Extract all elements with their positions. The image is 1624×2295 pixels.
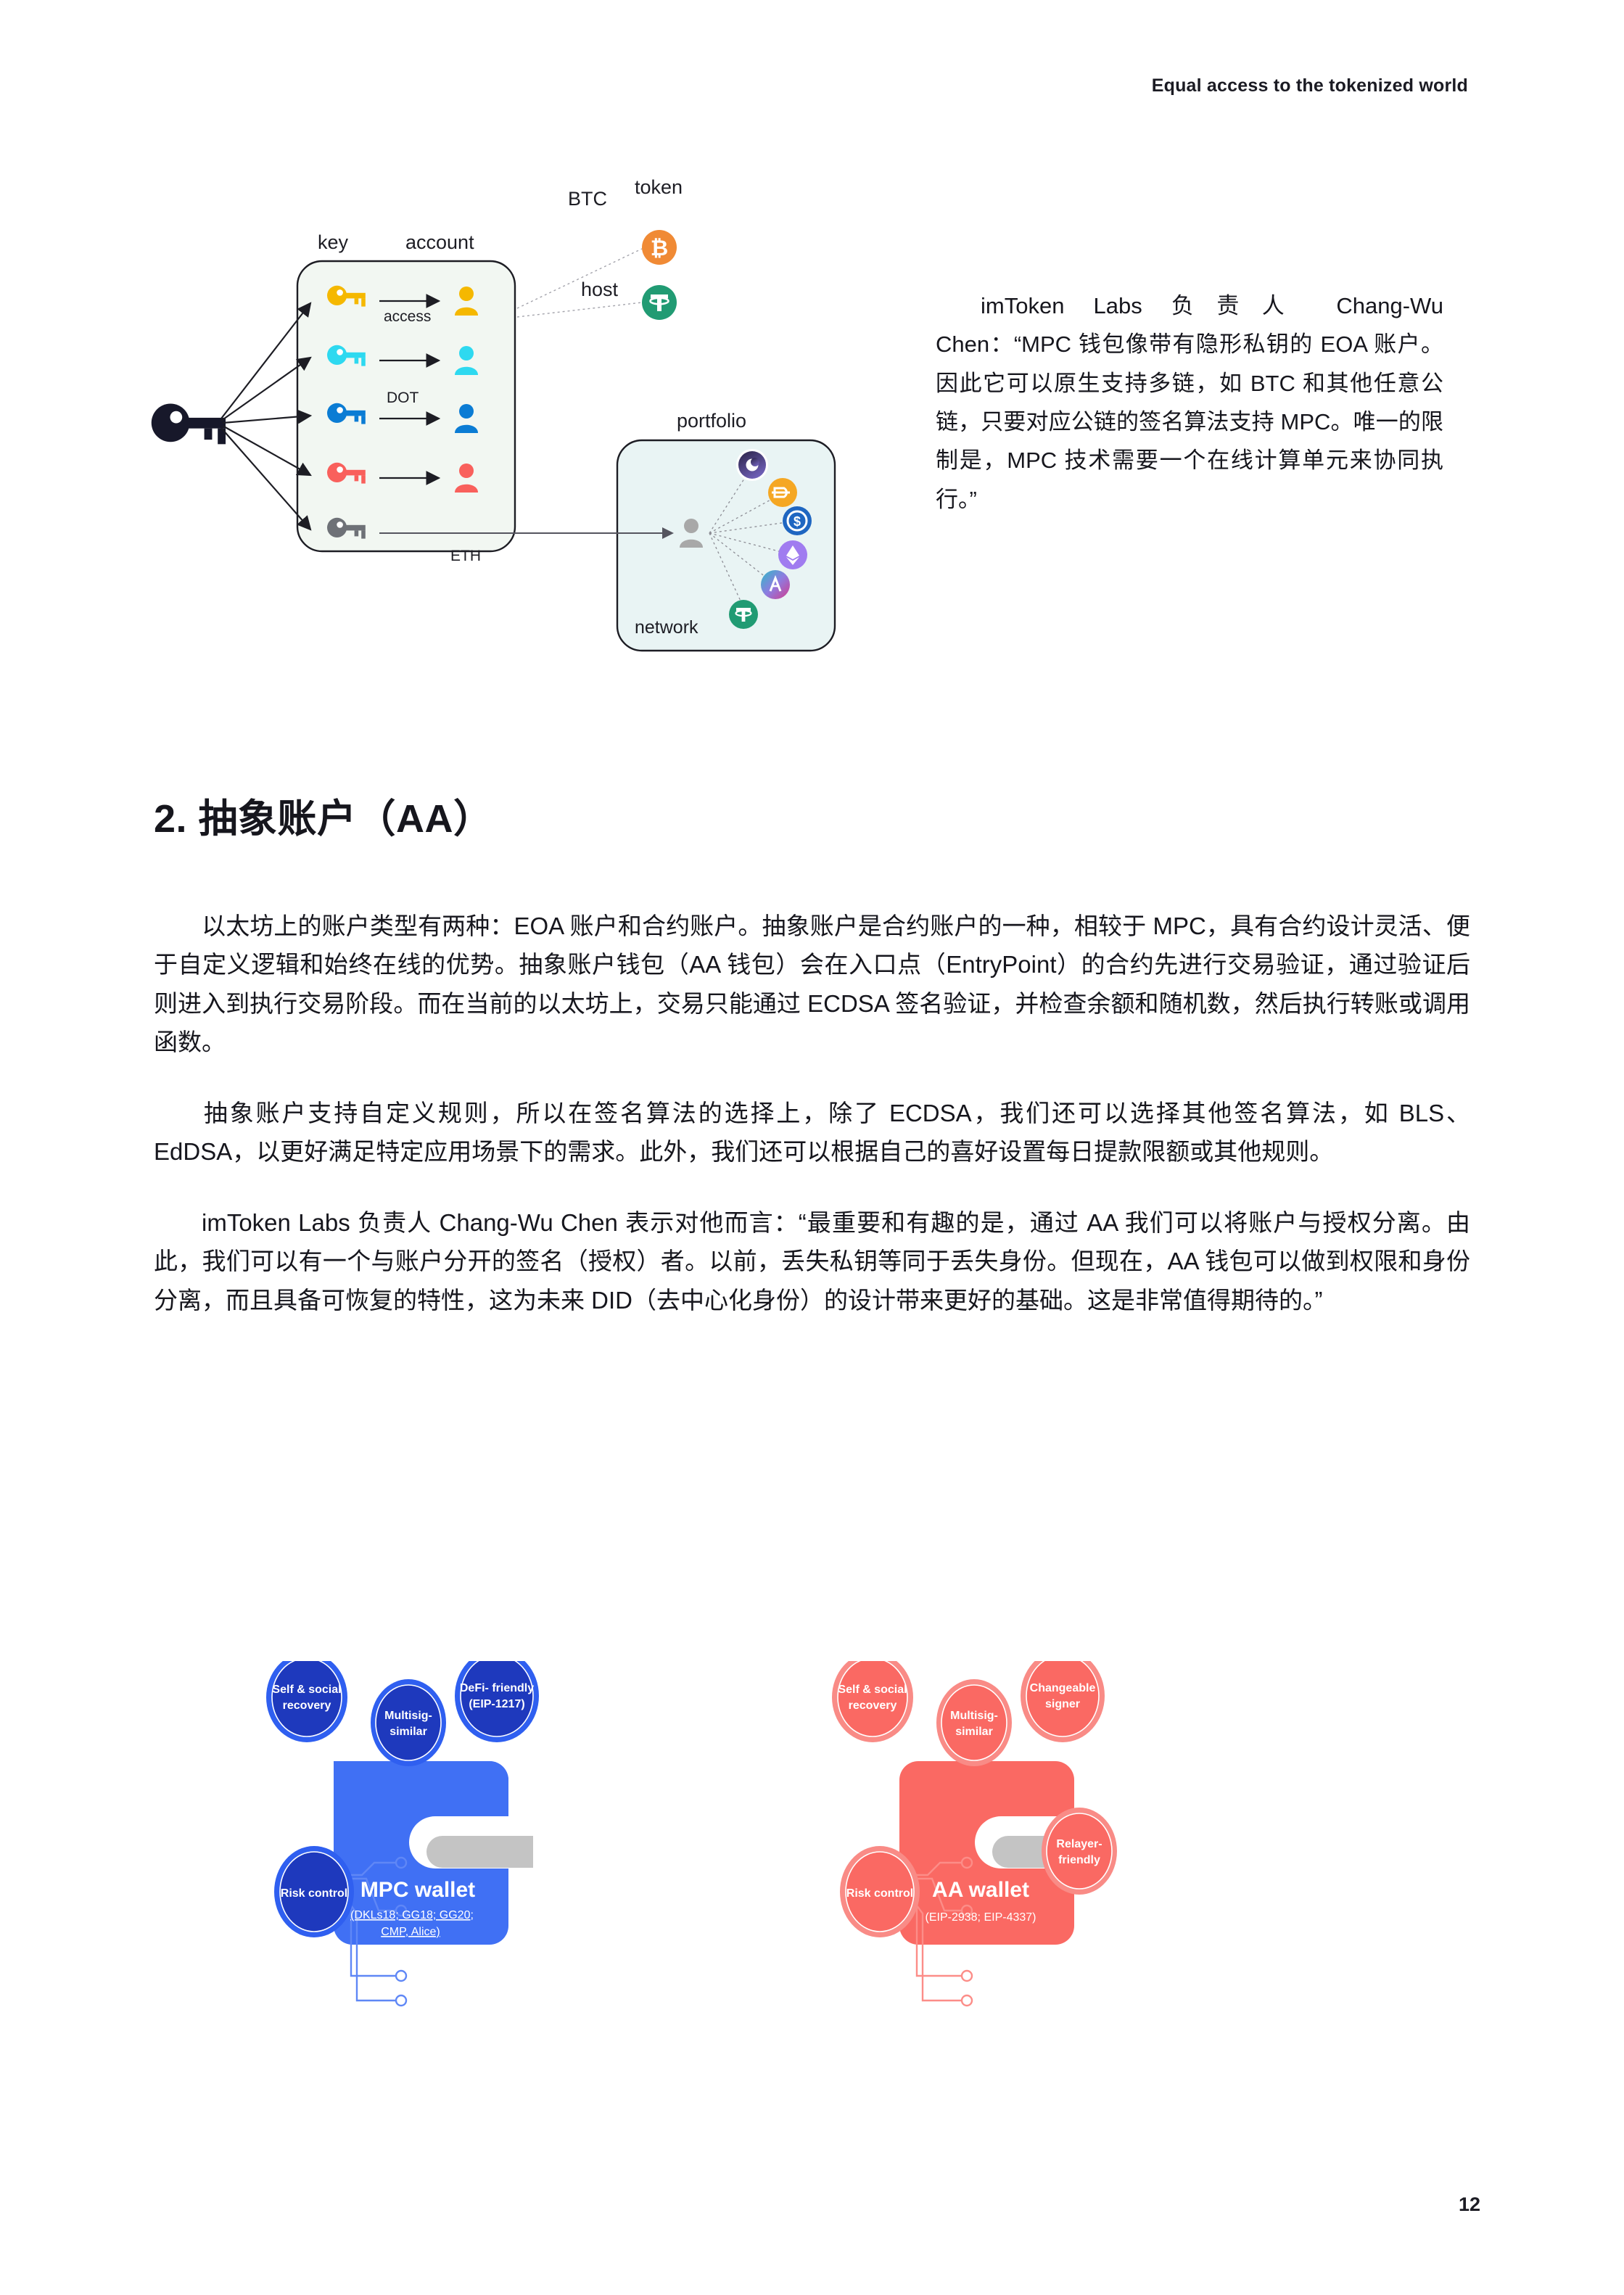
- mpc-bubble-label-line1: Risk control: [281, 1887, 347, 1900]
- mpc-wallet-title: MPC wallet: [360, 1878, 475, 1902]
- aa-bubble-self-social-recovery: Self & social recovery: [832, 1661, 913, 1742]
- aa-bubble-multisig-similar: Multisig- similar: [936, 1679, 1012, 1766]
- wallet-comparison-diagram: Self & social recovery Multisig- similar…: [261, 1661, 1393, 2096]
- label-portfolio: portfolio: [677, 410, 746, 432]
- mpc-bubble-multisig-similar: Multisig- similar: [371, 1679, 446, 1766]
- mpc-wallet-group: Self & social recovery Multisig- similar…: [266, 1661, 539, 2006]
- label-key: key: [318, 231, 349, 253]
- aa-bubble-label-line1: Changeable: [1030, 1682, 1096, 1694]
- aa-bubble-relayer-friendly: Relayer- friendly: [1042, 1808, 1117, 1895]
- paragraph-2-text: 抽象账户支持自定义规则，所以在签名算法的选择上，除了 ECDSA，我们还可以选择…: [154, 1100, 1470, 1165]
- mpc-bubble-label-line1: DeFi- friendly: [460, 1682, 534, 1694]
- label-eth: ETH: [450, 548, 481, 564]
- body-copy: 以太坊上的账户类型有两种：EOA 账户和合约账户。抽象账户是合约账户的一种，相较…: [154, 907, 1470, 1351]
- mpc-wallet-subtitle-line1: (DKLs18; GG18; GG20;: [350, 1909, 474, 1921]
- tether-icon-portfolio: [729, 600, 758, 629]
- aa-wallet-subtitle: (EIP-2938; EIP-4337): [926, 1911, 1036, 1924]
- label-btc: BTC: [568, 188, 607, 210]
- label-token: token: [635, 176, 683, 198]
- label-network: network: [635, 617, 698, 638]
- mpc-bubble-label-line1: Multisig-: [384, 1710, 432, 1722]
- mpc-bubble-label-line2: (EIP-1217): [469, 1698, 524, 1710]
- paragraph-1: 以太坊上的账户类型有两种：EOA 账户和合约账户。抽象账户是合约账户的一种，相较…: [154, 907, 1470, 1062]
- tether-icon-host: [642, 285, 677, 320]
- usdc-icon: $: [783, 506, 812, 535]
- page-number: 12: [1459, 2193, 1480, 2216]
- svg-text:$: $: [794, 514, 801, 529]
- dai-icon: [768, 478, 797, 507]
- paragraph-1-text: 以太坊上的账户类型有两种：EOA 账户和合约账户。抽象账户是合约账户的一种，相较…: [154, 912, 1470, 1055]
- mpc-bubble-risk-control: Risk control: [274, 1846, 354, 1937]
- label-access: access: [384, 308, 431, 325]
- aa-bubble-label-line1: Risk control: [846, 1887, 913, 1900]
- paragraph-2: 抽象账户支持自定义规则，所以在签名算法的选择上，除了 ECDSA，我们还可以选择…: [154, 1094, 1470, 1171]
- mpc-bubble-defi-friendly: DeFi- friendly (EIP-1217): [455, 1661, 539, 1742]
- aa-bubble-label-line2: signer: [1045, 1698, 1080, 1710]
- host-links: [517, 249, 642, 317]
- mpc-bubble-self-social-recovery: Self & social recovery: [266, 1661, 347, 1742]
- mpc-quote: imToken Labs 负责人 Chang-Wu Chen：“MPC 钱包像带…: [936, 287, 1443, 519]
- quote-text: imToken Labs 负责人 Chang-Wu Chen：“MPC 钱包像带…: [936, 293, 1443, 512]
- mpc-bubble-label-line2: similar: [389, 1726, 427, 1738]
- aa-bubble-label-line1: Relayer-: [1056, 1838, 1102, 1850]
- aave-icon: [761, 570, 790, 599]
- aa-bubble-changeable-signer: Changeable signer: [1021, 1661, 1105, 1742]
- bitcoin-icon: ₿: [642, 230, 677, 265]
- aa-bubble-label-line2: recovery: [849, 1699, 897, 1712]
- aa-wallet-title: AA wallet: [932, 1878, 1029, 1902]
- label-host: host: [581, 279, 619, 300]
- aa-wallet-group: Self & social recovery Multisig- similar…: [832, 1661, 1117, 2006]
- label-account: account: [405, 231, 474, 253]
- section-heading-aa: 2. 抽象账户（AA）: [154, 786, 493, 844]
- mpc-wallet-subtitle-line2: CMP, Alice): [381, 1926, 440, 1938]
- mpc-key-account-diagram: access DOT: [134, 163, 896, 743]
- ethereum-icon: [778, 540, 807, 569]
- lido-icon: [736, 449, 768, 481]
- paragraph-3: imToken Labs 负责人 Chang-Wu Chen 表示对他而言：“最…: [154, 1203, 1470, 1319]
- aa-bubble-label-line2: similar: [955, 1726, 993, 1738]
- paragraph-3-text: imToken Labs 负责人 Chang-Wu Chen 表示对他而言：“最…: [154, 1209, 1470, 1314]
- master-key-icon: [152, 404, 226, 445]
- aa-bubble-risk-control: Risk control: [840, 1846, 920, 1937]
- aa-bubble-label-line2: friendly: [1058, 1854, 1100, 1866]
- aa-bubble-label-line1: Multisig-: [950, 1710, 998, 1722]
- svg-text:₿: ₿: [651, 236, 668, 260]
- aa-bubble-label-line1: Self & social: [838, 1684, 907, 1696]
- mpc-bubble-label-line2: recovery: [283, 1699, 331, 1712]
- mpc-bubble-label-line1: Self & social: [272, 1684, 341, 1696]
- page-header-title: Equal access to the tokenized world: [1152, 75, 1468, 96]
- label-dot: DOT: [387, 390, 419, 406]
